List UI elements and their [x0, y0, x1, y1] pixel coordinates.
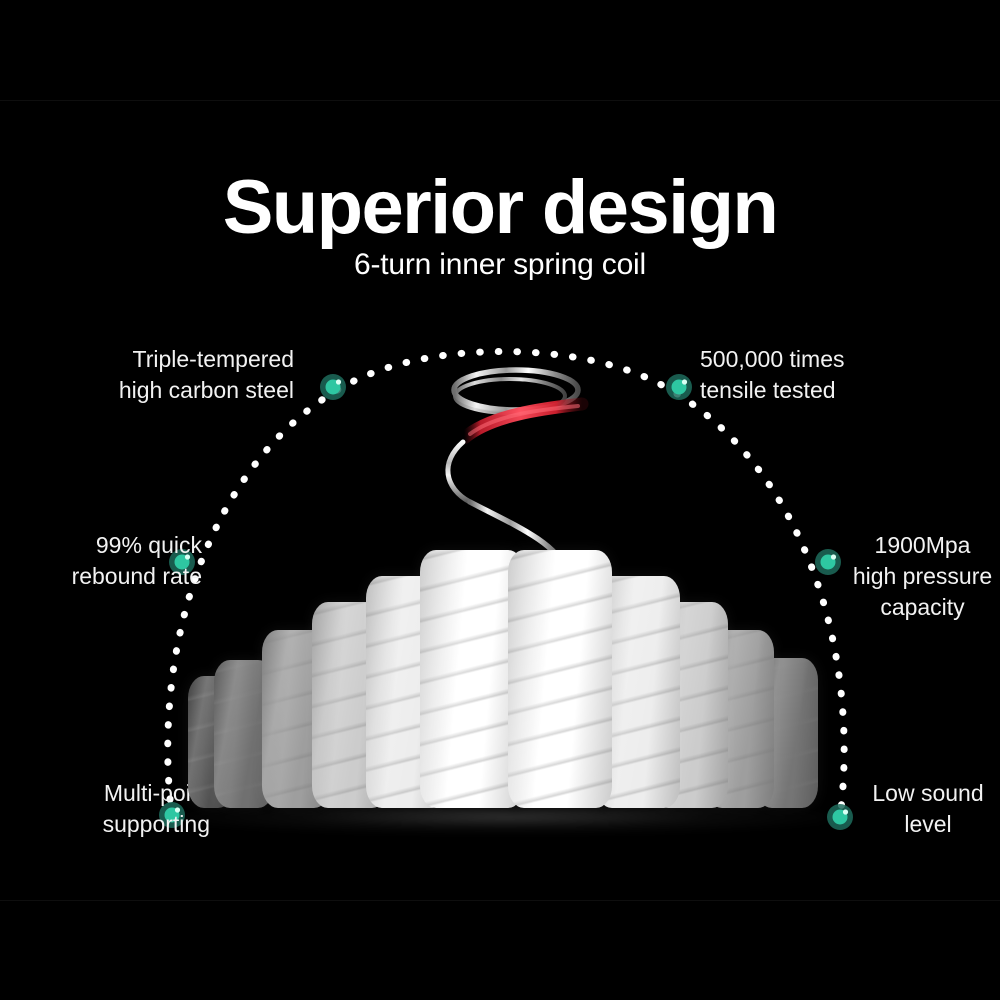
- callout-label-low-sound: Low sound level: [852, 778, 1000, 840]
- top-seam-divider: [0, 100, 1000, 101]
- pocket-coil: [508, 550, 612, 808]
- page-subtitle: 6-turn inner spring coil: [0, 246, 1000, 284]
- callout-label-tensile-tested: 500,000 times tensile tested: [700, 344, 950, 406]
- bottom-seam-divider: [0, 900, 1000, 901]
- callout-label-pressure-capacity: 1900Mpa high pressure capacity: [840, 530, 1000, 623]
- spring-turn-2: [448, 442, 470, 502]
- callout-label-multi-point: Multi-point supporting: [10, 778, 210, 840]
- page-title: Superior design: [0, 166, 1000, 250]
- callout-label-rebound-rate: 99% quick rebound rate: [17, 530, 202, 592]
- infographic-canvas: Superior design 6-turn inner spring coil…: [0, 0, 1000, 1000]
- coil-sheen: [508, 550, 612, 808]
- callout-label-triple-tempered: Triple-tempered high carbon steel: [64, 344, 294, 406]
